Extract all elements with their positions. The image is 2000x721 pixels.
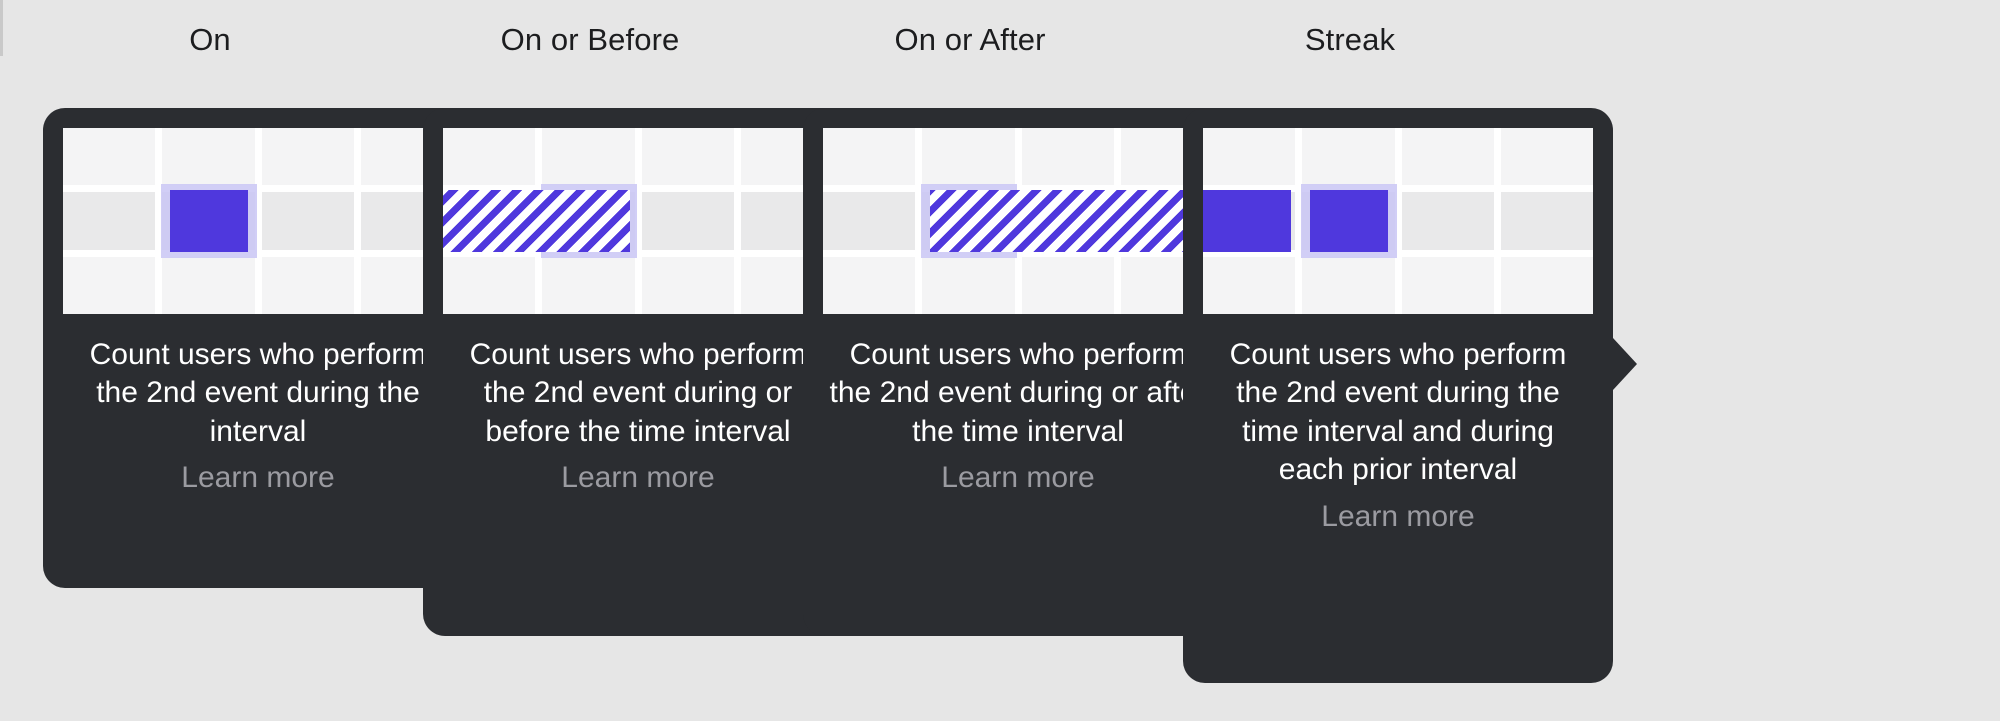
grid-cell	[1402, 128, 1494, 185]
event-bar-hatched	[443, 190, 630, 252]
learn-more-link[interactable]: Learn more	[63, 459, 453, 497]
illustration-grid	[63, 128, 453, 314]
card-arrow-notch	[1613, 338, 1637, 390]
grid-cell	[1203, 257, 1295, 314]
grid-cell	[262, 257, 354, 314]
grid-cell	[162, 128, 254, 185]
card-description: Count users who perform the 2nd event du…	[823, 336, 1213, 451]
grid-cell	[1203, 128, 1295, 185]
event-bar-solid-prior	[1203, 190, 1291, 252]
illustration-on	[63, 128, 453, 314]
grid-cell	[642, 192, 734, 249]
grid-cell	[262, 128, 354, 185]
grid-cell	[642, 257, 734, 314]
grid-cell	[823, 257, 915, 314]
illustration-on-or-before	[443, 128, 833, 314]
column-header-on: On	[40, 22, 380, 58]
column-header-on-or-before: On or Before	[420, 22, 760, 58]
learn-more-link[interactable]: Learn more	[1203, 498, 1593, 536]
grid-cell	[1022, 257, 1114, 314]
card-description: Count users who perform the 2nd event du…	[1203, 336, 1593, 490]
event-bar-hatched	[930, 190, 1213, 252]
grid-cell	[1402, 192, 1494, 249]
comparison-card-on-or-before[interactable]: Count users who perform the 2nd event du…	[423, 108, 853, 636]
column-header-row: On On or Before On or After Streak	[0, 0, 2000, 78]
event-bar-solid-current	[1310, 190, 1388, 252]
grid-cell	[922, 128, 1014, 185]
grid-cell	[823, 128, 915, 185]
grid-cell	[1022, 128, 1114, 185]
grid-cell	[63, 128, 155, 185]
grid-cell	[1402, 257, 1494, 314]
grid-cell	[63, 257, 155, 314]
grid-cell	[1501, 257, 1593, 314]
grid-cell	[1302, 257, 1394, 314]
grid-cell	[1302, 128, 1394, 185]
grid-cell	[262, 192, 354, 249]
grid-cell	[1501, 128, 1593, 185]
grid-cell	[162, 257, 254, 314]
learn-more-link[interactable]: Learn more	[443, 459, 833, 497]
card-description: Count users who perform the 2nd event du…	[63, 336, 453, 451]
comparison-card-on[interactable]: Count users who perform the 2nd event du…	[43, 108, 473, 588]
card-description: Count users who perform the 2nd event du…	[443, 336, 833, 451]
grid-cell	[1501, 192, 1593, 249]
event-bar-solid	[170, 190, 248, 252]
column-header-on-or-after: On or After	[800, 22, 1140, 58]
grid-cell	[542, 257, 634, 314]
grid-cell	[922, 257, 1014, 314]
learn-more-link[interactable]: Learn more	[823, 459, 1213, 497]
illustration-on-or-after	[823, 128, 1213, 314]
illustration-streak	[1203, 128, 1593, 314]
comparison-card-on-or-after[interactable]: Count users who perform the 2nd event du…	[803, 108, 1233, 636]
grid-cell	[443, 128, 535, 185]
grid-cell	[443, 257, 535, 314]
comparison-board: On On or Before On or After Streak	[0, 0, 2000, 721]
grid-cell	[823, 192, 915, 249]
comparison-card-streak[interactable]: Count users who perform the 2nd event du…	[1183, 108, 1613, 683]
grid-cell	[642, 128, 734, 185]
grid-cell	[63, 192, 155, 249]
column-header-streak: Streak	[1180, 22, 1520, 58]
grid-cell	[542, 128, 634, 185]
